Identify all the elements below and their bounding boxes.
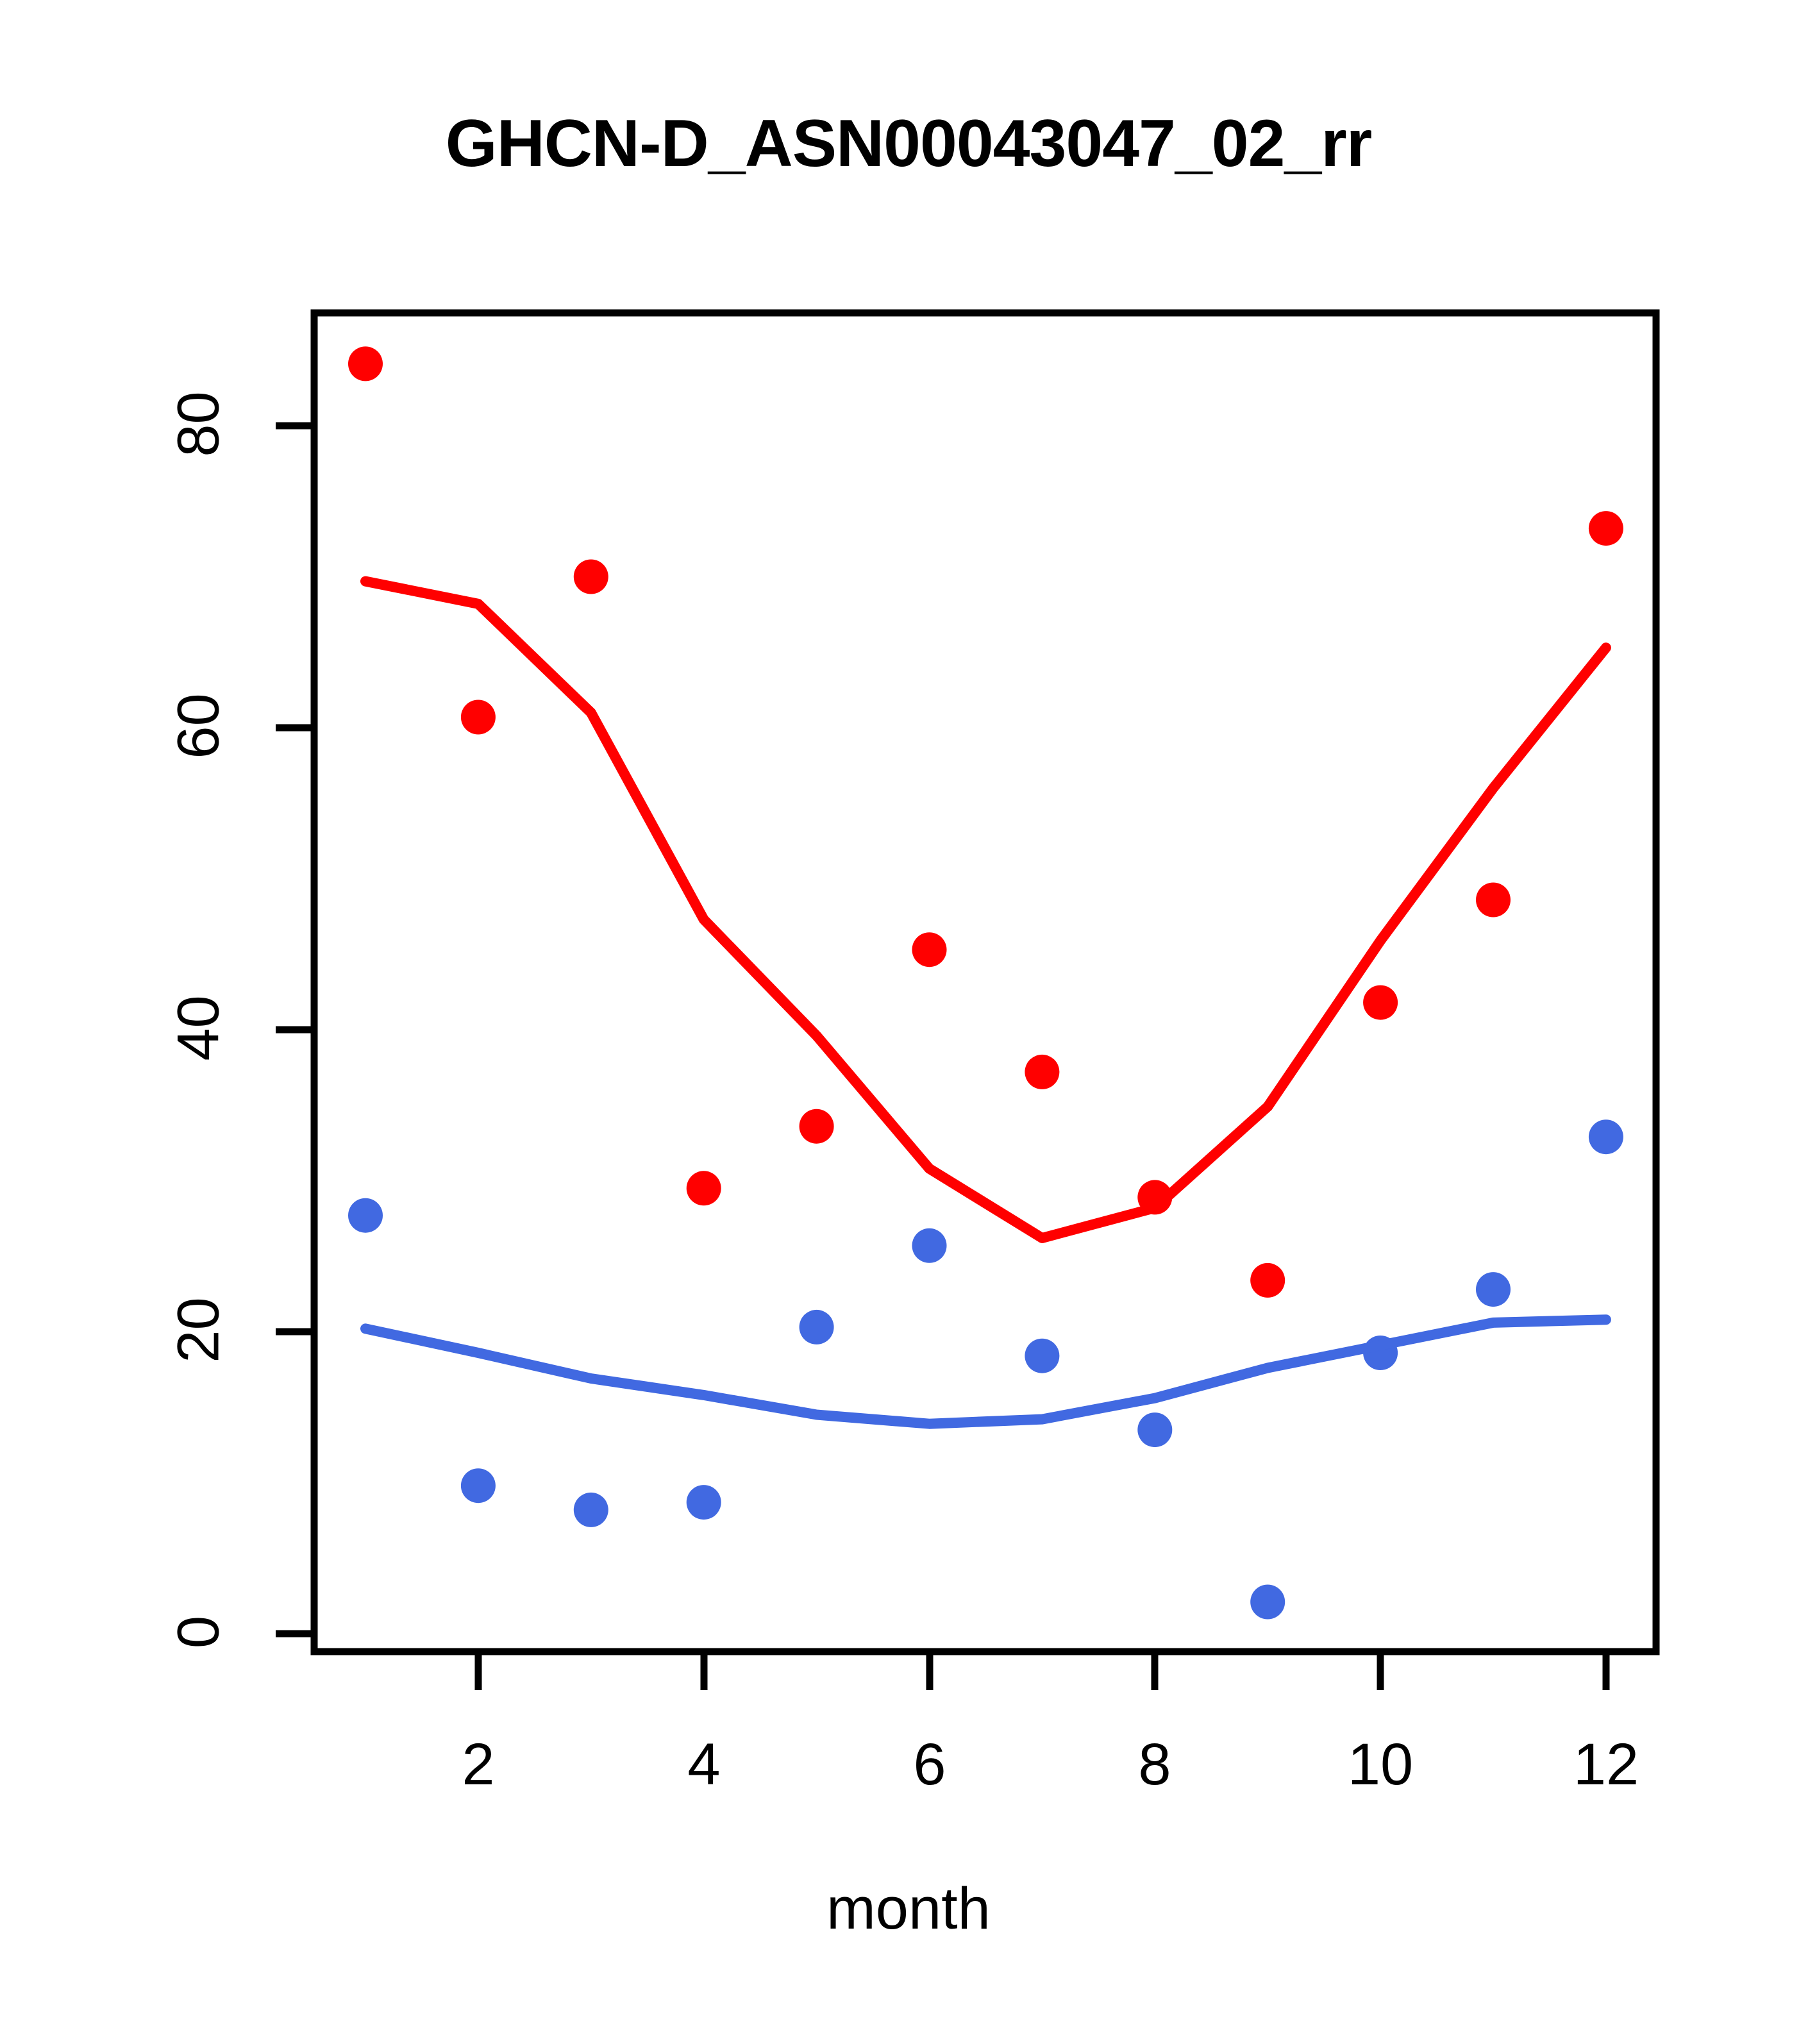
- plot-area: 0 20 40 60 80 2 4 6 8 10 12 month: [0, 0, 1817, 2044]
- data-point: [1363, 985, 1398, 1020]
- x-tick-label-12: 12: [1536, 1731, 1677, 1798]
- y-tick-label-40: 40: [165, 993, 233, 1064]
- data-point: [348, 1198, 383, 1233]
- x-tick-label-8: 8: [1084, 1731, 1225, 1798]
- data-point: [912, 932, 947, 967]
- data-point: [574, 1493, 608, 1527]
- series-red-points: [348, 346, 1623, 1298]
- chart-page: GHCN-D_ASN00043047_02_rr: [0, 0, 1817, 2044]
- series-blue-trend: [365, 1319, 1606, 1424]
- data-point: [461, 1468, 496, 1503]
- series-red-trend: [365, 582, 1606, 1238]
- x-tick-label-4: 4: [633, 1731, 775, 1798]
- x-axis-ticks: [478, 1652, 1606, 1690]
- x-tick-label-2: 2: [408, 1731, 549, 1798]
- data-point: [1476, 883, 1511, 917]
- trend-line: [365, 582, 1606, 1238]
- data-point: [687, 1485, 721, 1520]
- data-point: [1250, 1263, 1285, 1298]
- plot-frame: [314, 313, 1656, 1652]
- x-axis-title: month: [0, 1875, 1817, 1943]
- data-point: [1025, 1055, 1059, 1089]
- y-tick-label-80: 80: [165, 389, 233, 460]
- data-series-layer: [348, 346, 1623, 1619]
- data-point: [1476, 1272, 1511, 1307]
- data-point: [912, 1228, 947, 1263]
- data-point: [800, 1109, 834, 1144]
- data-point: [687, 1171, 721, 1205]
- y-tick-label-60: 60: [165, 691, 233, 762]
- data-point: [461, 700, 496, 735]
- data-point: [1250, 1585, 1285, 1620]
- data-point: [1589, 511, 1623, 546]
- x-tick-label-10: 10: [1310, 1731, 1451, 1798]
- x-tick-label-6: 6: [859, 1731, 1000, 1798]
- data-point: [574, 560, 608, 594]
- data-point: [1137, 1412, 1172, 1447]
- y-axis-ticks: [276, 426, 314, 1634]
- trend-line: [365, 1319, 1606, 1424]
- y-tick-label-20: 20: [165, 1295, 233, 1366]
- data-point: [1025, 1339, 1059, 1373]
- data-point: [800, 1310, 834, 1345]
- data-point: [1589, 1119, 1623, 1154]
- y-tick-label-0: 0: [165, 1597, 233, 1668]
- data-point: [348, 346, 383, 381]
